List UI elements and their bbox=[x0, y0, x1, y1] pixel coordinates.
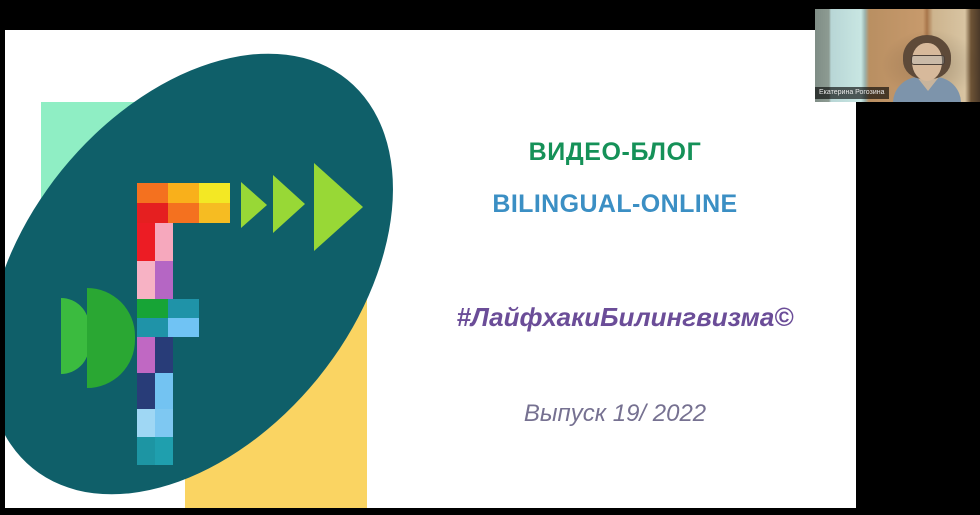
letter-f-cell bbox=[155, 337, 173, 373]
meeting-stage: ВИДЕО-БЛОГ BILINGUAL-ONLINE #ЛайфхакиБил… bbox=[0, 0, 980, 515]
letter-f-cell bbox=[155, 373, 173, 409]
letter-f-cell bbox=[137, 299, 168, 318]
slide-title-line2: BILINGUAL-ONLINE bbox=[405, 190, 825, 219]
letter-f-cell bbox=[155, 223, 173, 261]
letter-f-cell bbox=[155, 261, 173, 299]
letter-f-cell bbox=[137, 223, 155, 261]
letter-f-cell bbox=[168, 183, 199, 203]
slide-title-line1: ВИДЕО-БЛОГ bbox=[405, 138, 825, 167]
participant-video-thumbnail[interactable]: Екатерина Рогозина bbox=[815, 9, 980, 102]
bilingual-online-logo bbox=[5, 30, 405, 508]
arrow-large-icon bbox=[314, 163, 366, 251]
arrow-medium-icon bbox=[273, 175, 308, 233]
letter-f-cell bbox=[137, 318, 168, 337]
letter-f-cell bbox=[137, 409, 155, 437]
letter-f-mosaic bbox=[137, 183, 231, 468]
arrow-small-icon bbox=[241, 182, 270, 228]
letter-f-cell bbox=[155, 409, 173, 437]
letter-f-cell bbox=[137, 183, 168, 203]
participant-glasses-icon bbox=[911, 55, 945, 65]
letter-f-cell bbox=[199, 183, 230, 203]
slide-issue-number: Выпуск 19/ 2022 bbox=[405, 400, 825, 428]
letter-f-cell bbox=[168, 318, 199, 337]
participant-figure bbox=[899, 35, 955, 102]
letter-f-cell bbox=[168, 299, 199, 318]
letter-f-cell bbox=[137, 203, 168, 223]
slide-hashtag: #ЛайфхакиБилингвизма© bbox=[405, 302, 845, 333]
letter-f-cell bbox=[137, 337, 155, 373]
slide-text-column: ВИДЕО-БЛОГ BILINGUAL-ONLINE #ЛайфхакиБил… bbox=[405, 30, 856, 508]
letter-f-cell bbox=[137, 437, 155, 465]
letter-f-cell bbox=[155, 437, 173, 465]
screenshare-slide[interactable]: ВИДЕО-БЛОГ BILINGUAL-ONLINE #ЛайфхакиБил… bbox=[5, 30, 856, 508]
letter-f-cell bbox=[199, 203, 230, 223]
letter-f-cell bbox=[137, 261, 155, 299]
letter-f-cell bbox=[168, 203, 199, 223]
participant-name-label: Екатерина Рогозина bbox=[815, 87, 889, 99]
letter-f-cell bbox=[137, 373, 155, 409]
